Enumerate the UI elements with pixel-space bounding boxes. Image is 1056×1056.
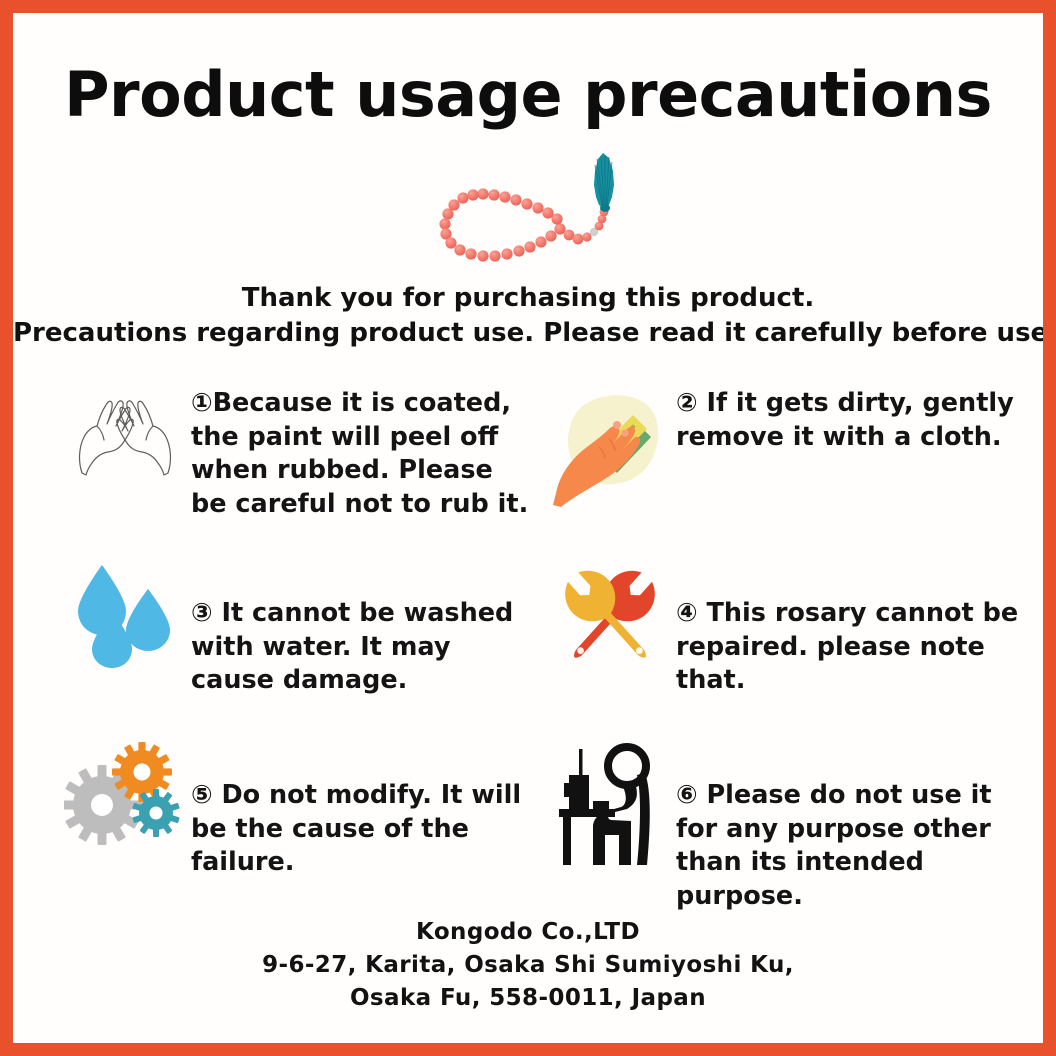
precaution-item-5: ⑤ Do not modify. It will be the cause of… bbox=[59, 731, 538, 911]
page-inner: Product usage precautions bbox=[13, 13, 1043, 1043]
company-address: Kongodo Co.,LTD 9-6-27, Karita, Osaka Sh… bbox=[13, 916, 1043, 1015]
intro-line-1: Thank you for purchasing this product. bbox=[13, 281, 1043, 316]
water-drops-icon bbox=[59, 559, 191, 689]
precaution-item-4-text: ④ This rosary cannot be repaired. please… bbox=[676, 559, 1023, 698]
gears-icon bbox=[59, 739, 191, 869]
precaution-item-2: ② If it gets dirty, gently remove it wit… bbox=[544, 371, 1023, 551]
precaution-item-6-text: ⑥ Please do not use it for any purpose o… bbox=[676, 739, 1023, 914]
crossed-wrenches-icon bbox=[544, 559, 676, 689]
precaution-item-3-text: ③ It cannot be washed with water. It may… bbox=[191, 559, 538, 698]
intro-text: Thank you for purchasing this product. P… bbox=[13, 281, 1043, 350]
precaution-item-4: ④ This rosary cannot be repaired. please… bbox=[544, 551, 1023, 731]
page-title: Product usage precautions bbox=[13, 61, 1043, 129]
intro-line-2: Precautions regarding product use. Pleas… bbox=[13, 316, 1043, 351]
rosary-beads-icon bbox=[413, 153, 643, 278]
precaution-item-2-text: ② If it gets dirty, gently remove it wit… bbox=[676, 379, 1023, 454]
hand-with-sponge-icon bbox=[544, 379, 676, 509]
precaution-item-6: ⑥ Please do not use it for any purpose o… bbox=[544, 731, 1023, 911]
precaution-item-3: ③ It cannot be washed with water. It may… bbox=[59, 551, 538, 731]
person-at-desk-icon bbox=[544, 739, 676, 869]
precaution-item-5-text: ⑤ Do not modify. It will be the cause of… bbox=[191, 739, 538, 880]
rosary-illustration bbox=[13, 153, 1043, 278]
precaution-item-1: ①Because it is coated, the paint will pe… bbox=[59, 371, 538, 551]
precaution-items-grid: ①Because it is coated, the paint will pe… bbox=[59, 371, 1023, 911]
precautions-page: Product usage precautions bbox=[0, 0, 1056, 1056]
address-line-2: Osaka Fu, 558-0011, Japan bbox=[13, 982, 1043, 1015]
company-name: Kongodo Co.,LTD bbox=[13, 916, 1043, 949]
rubbing-hands-icon bbox=[59, 379, 191, 509]
precaution-item-1-text: ①Because it is coated, the paint will pe… bbox=[191, 379, 538, 522]
address-line-1: 9-6-27, Karita, Osaka Shi Sumiyoshi Ku, bbox=[13, 949, 1043, 982]
tassel bbox=[594, 153, 614, 212]
